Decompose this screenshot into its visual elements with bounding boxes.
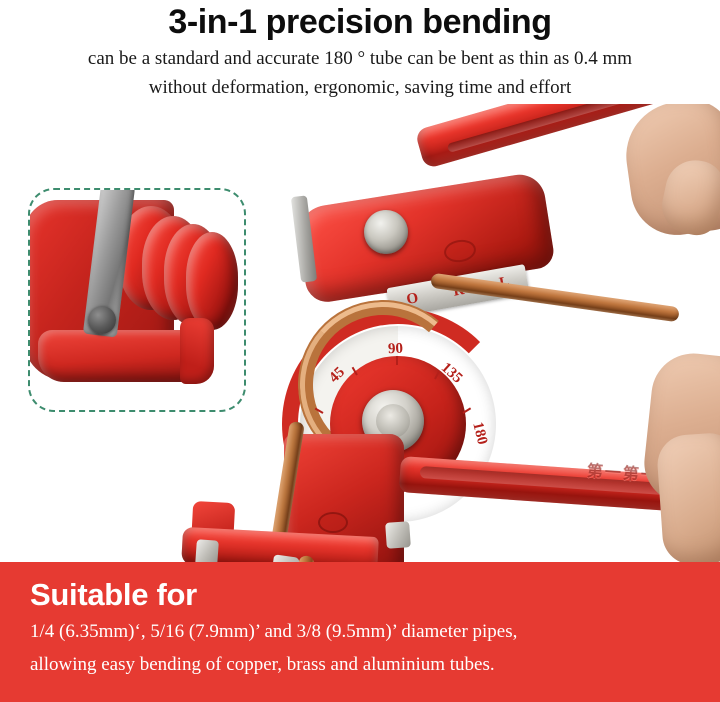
suitable-for-banner: Suitable for 1/4 (6.35mm)‘, 5/16 (7.9mm)… [0,562,720,702]
product-feature-card: 3-in-1 precision bending can be a standa… [0,0,720,702]
former-link-bolt [88,306,116,334]
lower-jaw-dimple [318,512,348,533]
banner-line-2: allowing easy bending of copper, brass a… [0,645,720,678]
head-pivot-bolt [364,210,408,254]
detail-inset-photo [30,190,244,410]
subtitle-line-2: without deformation, ergonomic, saving t… [0,71,720,100]
former-jaw-hook-tip [180,318,214,384]
header: 3-in-1 precision bending can be a standa… [0,0,720,100]
banner-line-1: 1/4 (6.35mm)‘, 5/16 (7.9mm)’ and 3/8 (9.… [0,612,720,645]
jaw-steel-tip [385,521,411,549]
former-groove-4 [186,232,238,330]
hand-lower-fingers [656,431,720,564]
subtitle-line-1: can be a standard and accurate 180 ° tub… [0,42,720,71]
banner-heading: Suitable for [0,562,720,612]
detail-inset-box [28,188,246,412]
protractor-center-bolt-inner [376,404,410,438]
protractor-label-90: 90 [388,342,404,358]
foot-arm-tip-left [195,539,219,564]
page-title: 3-in-1 precision bending [0,0,720,42]
product-photo: O R L 0 45 90 135 180 [0,104,720,564]
protractor-tick [396,356,398,365]
